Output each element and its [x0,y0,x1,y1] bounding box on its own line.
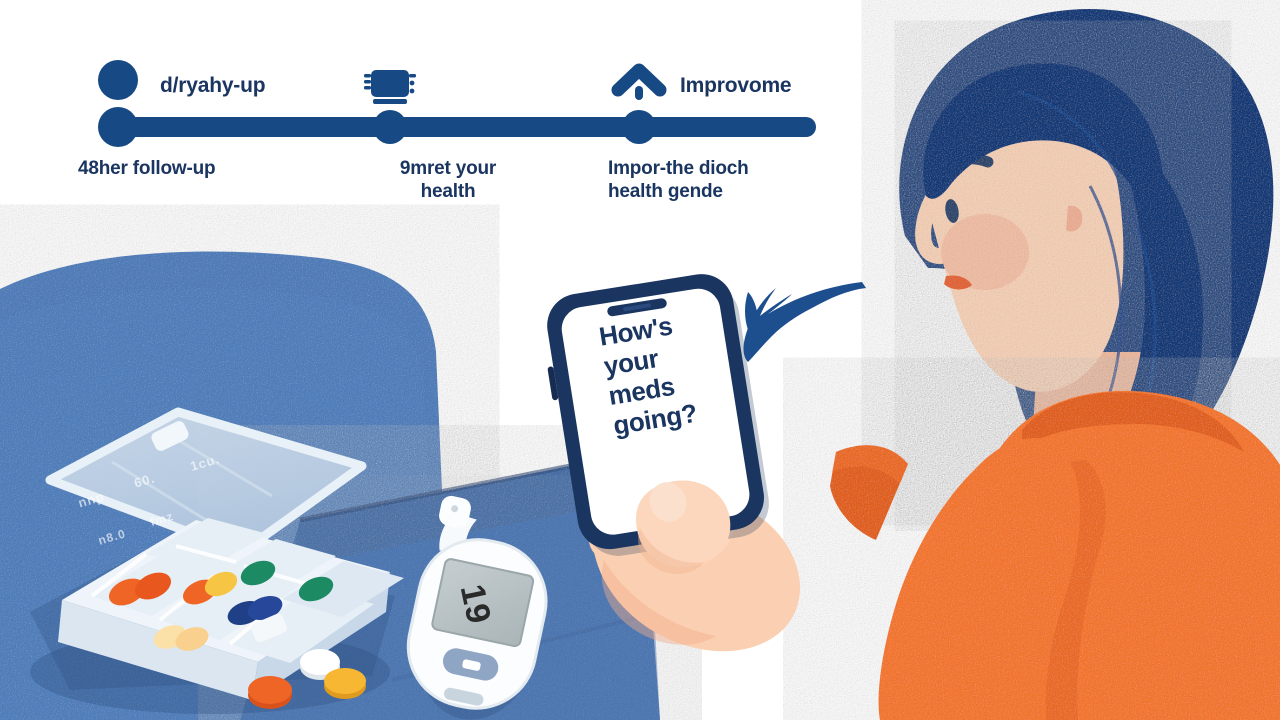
timeline-title-1: d/ryahy-up [160,74,265,98]
timeline-subtitle-2: 9mret your health [358,157,538,203]
timeline-node-2[interactable] [373,110,407,144]
amber-tablet [324,668,366,694]
timeline-subtitle-3-line2: health gende [608,180,828,203]
timeline-subtitle-3-line1: Impor-the dioch [608,157,828,180]
orange-tablet [248,676,292,704]
glucose-reading: 19 [452,581,498,628]
timeline-subtitle-2-line1: 9mret your [358,157,538,180]
illustration-canvas: d/ryahy-up Improvome 48her follow-up 9mr… [0,0,1280,720]
timeline-title-3: Improvome [680,74,791,98]
timeline-bar [100,117,816,137]
filled-circle-icon [98,60,138,100]
chevron-up-dot [635,86,643,100]
phone-message: How's your meds going? [597,303,734,440]
timeline-subtitle-2-line2: health [358,180,538,203]
timeline-node-1[interactable] [98,107,138,147]
timeline-node-3[interactable] [622,110,656,144]
timeline-subtitle-1: 48her follow-up [78,157,308,180]
timeline-subtitle-3: Impor-the dioch health gende [608,157,828,203]
